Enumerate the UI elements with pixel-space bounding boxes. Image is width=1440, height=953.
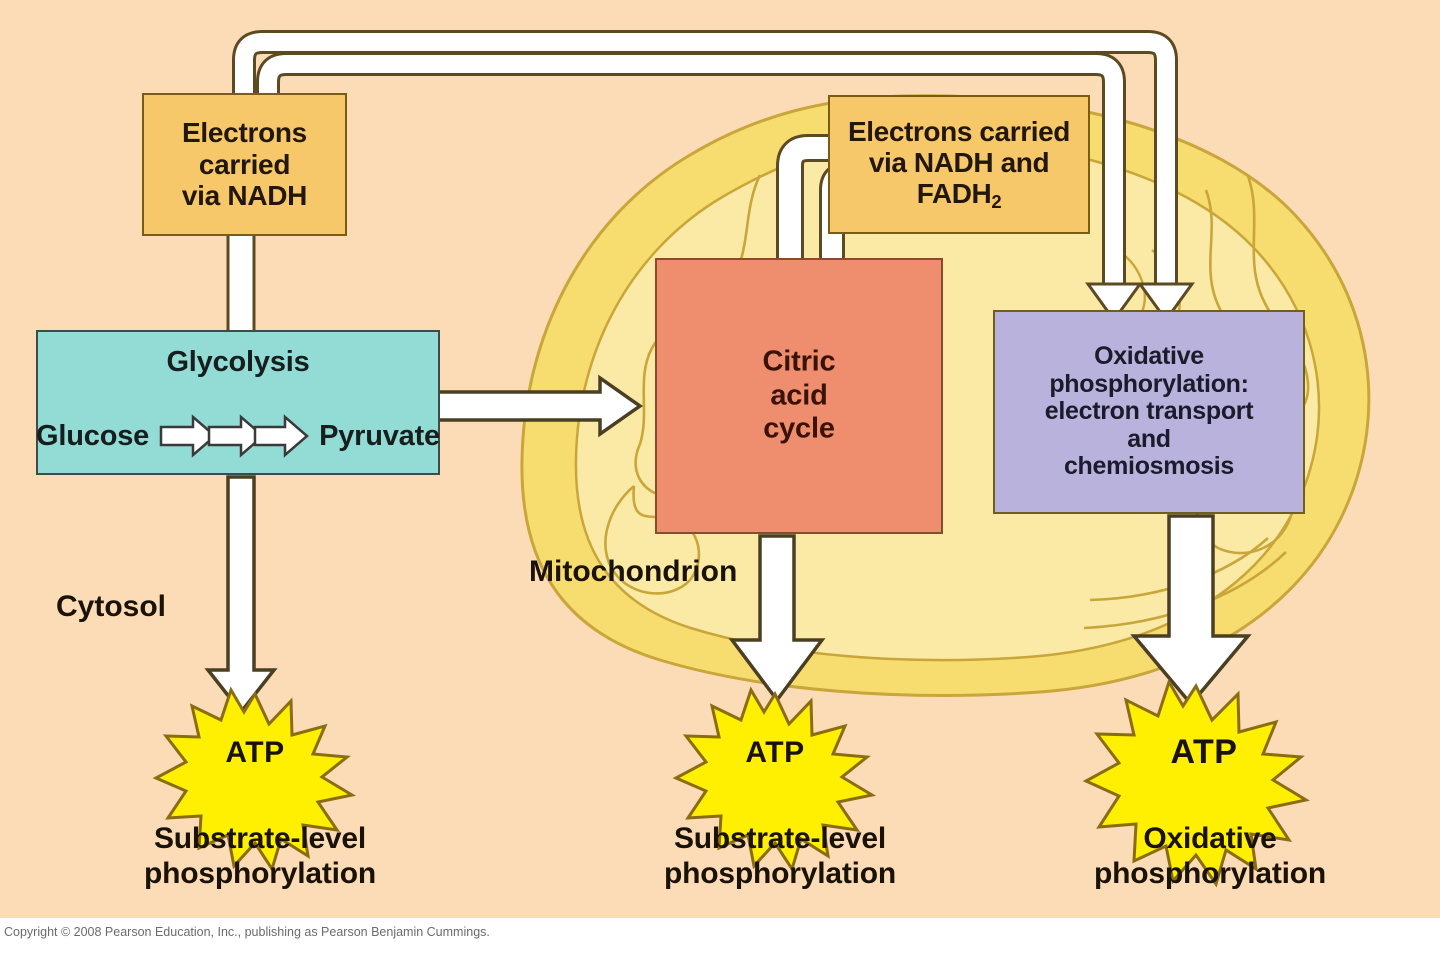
- atp-badge-glycolysis: ATP: [175, 694, 335, 812]
- mitochondrion-label: Mitochondrion: [529, 555, 737, 589]
- atp-label-2: ATP: [745, 736, 804, 770]
- pyruvate-label: Pyruvate: [319, 420, 440, 452]
- glycolysis-pathway-row: Glucose Pyruvate: [38, 408, 438, 464]
- oxphos-line2: phosphorylation:: [1049, 371, 1248, 399]
- oxphos-line3: electron transport: [1045, 398, 1254, 426]
- oxphos-line4: and: [1127, 426, 1171, 454]
- caption-2-line1: Substrate-level: [590, 822, 970, 857]
- glycolysis-to-nadh-pipe: [228, 232, 254, 334]
- citric-acid-cycle-label: Citric acid cycle: [657, 346, 941, 447]
- glucose-label: Glucose: [36, 420, 149, 452]
- citric-acid-cycle-box[interactable]: Citric acid cycle: [655, 258, 943, 534]
- oxidative-phosphorylation-box[interactable]: Oxidative phosphorylation: electron tran…: [993, 310, 1305, 514]
- atp-badge-oxphos: ATP: [1110, 688, 1298, 816]
- atp-arrow-glycolysis: [208, 477, 274, 712]
- cytosol-label: Cytosol: [56, 590, 166, 624]
- figure-canvas: Electrons carried via NADH Electrons car…: [0, 0, 1440, 953]
- copyright-notice: Copyright © 2008 Pearson Education, Inc.…: [4, 925, 490, 939]
- caption-2-line2: phosphorylation: [590, 857, 970, 892]
- diagram-background: Electrons carried via NADH Electrons car…: [0, 0, 1440, 918]
- atp-label-1: ATP: [225, 736, 284, 770]
- citric-line2: acid: [657, 379, 941, 413]
- electrons-right-line2: via NADH and: [869, 147, 1049, 178]
- electrons-right-line1: Electrons carried: [848, 116, 1070, 147]
- caption-substrate-level-2: Substrate-level phosphorylation: [590, 822, 970, 891]
- glycolysis-title: Glycolysis: [166, 346, 309, 378]
- glycolysis-box[interactable]: Glycolysis Glucose Pyruvate: [36, 330, 440, 475]
- caption-oxidative: Oxidative phosphorylation: [1040, 822, 1380, 891]
- electrons-left-line1: Electrons: [182, 117, 307, 148]
- fadh-subscript: 2: [991, 192, 1001, 213]
- atp-badge-citric: ATP: [695, 694, 855, 812]
- electrons-left-line3: via NADH: [182, 180, 307, 211]
- atp-label-3: ATP: [1171, 733, 1238, 772]
- caption-substrate-level-1: Substrate-level phosphorylation: [70, 822, 450, 891]
- electrons-carried-nadh-box[interactable]: Electrons carried via NADH: [142, 93, 347, 236]
- caption-3-line2: phosphorylation: [1040, 857, 1380, 892]
- electrons-left-line2: carried: [199, 149, 290, 180]
- glycolysis-step-arrows: [159, 413, 309, 459]
- oxphos-line1: Oxidative: [1094, 343, 1204, 371]
- caption-1-line1: Substrate-level: [70, 822, 450, 857]
- electrons-carried-nadh-fadh2-box[interactable]: Electrons carried via NADH and FADH2: [828, 95, 1090, 234]
- electrons-right-line3: FADH2: [917, 178, 1002, 213]
- citric-line3: cycle: [657, 413, 941, 447]
- caption-3-line1: Oxidative: [1040, 822, 1380, 857]
- triple-chevron-arrow-icon: [159, 413, 309, 459]
- caption-1-line2: phosphorylation: [70, 857, 450, 892]
- oxphos-line5: chemiosmosis: [1064, 453, 1234, 481]
- citric-line1: Citric: [657, 346, 941, 380]
- fadh-text: FADH: [917, 178, 992, 209]
